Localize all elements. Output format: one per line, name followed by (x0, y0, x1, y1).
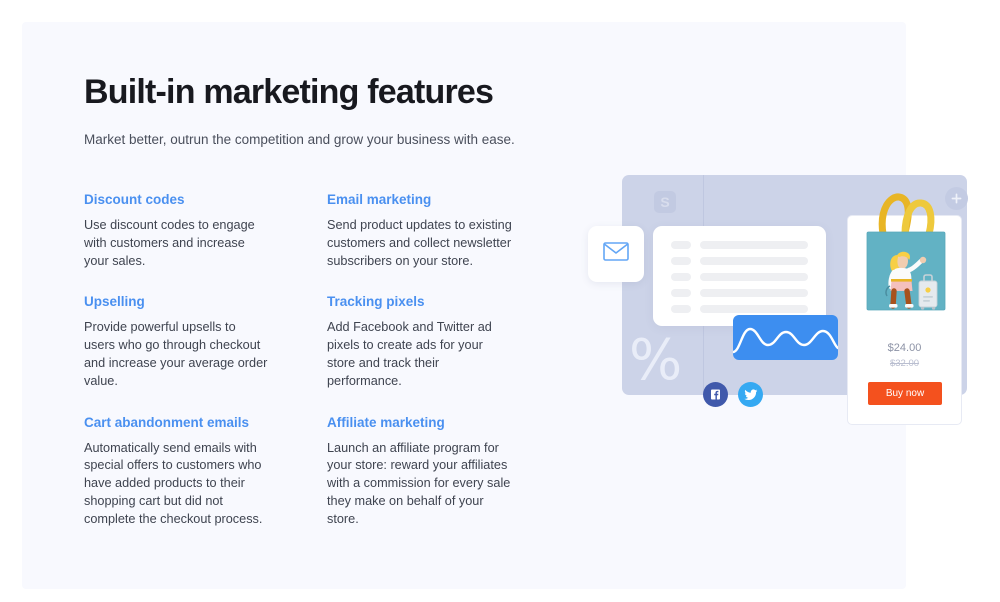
list-item (671, 305, 808, 313)
list-item-thumb (671, 241, 691, 249)
buy-now-button[interactable]: Buy now (868, 382, 942, 405)
list-item-thumb (671, 273, 691, 281)
feature-email-marketing: Email marketing Send product updates to … (327, 190, 512, 270)
list-item-line (700, 273, 808, 281)
product-price: $24.00 (847, 342, 962, 354)
feature-upselling: Upselling Provide powerful upsells to us… (84, 292, 269, 390)
list-item-line (700, 257, 808, 265)
list-item-line (700, 305, 808, 313)
list-item (671, 289, 808, 297)
social-share-group (703, 382, 763, 407)
features-grid: Discount codes Use discount codes to eng… (84, 190, 554, 551)
page-title: Built-in marketing features (84, 70, 524, 114)
list-item-thumb (671, 289, 691, 297)
feature-body: Provide powerful upsells to users who go… (84, 319, 269, 390)
marketing-illustration: S % (585, 160, 985, 440)
product-image (853, 190, 957, 325)
product-list-card (653, 226, 826, 326)
feature-title: Email marketing (327, 190, 512, 210)
list-item (671, 257, 808, 265)
feature-body: Automatically send emails with special o… (84, 440, 269, 529)
list-item (671, 273, 808, 281)
page-root: Built-in marketing features Market bette… (0, 0, 1000, 602)
feature-affiliate-marketing: Affiliate marketing Launch an affiliate … (327, 413, 512, 529)
feature-body: Send product updates to existing custome… (327, 217, 512, 270)
feature-body: Launch an affiliate program for your sto… (327, 440, 512, 529)
list-item-line (700, 289, 808, 297)
list-item-line (700, 241, 808, 249)
list-item-thumb (671, 305, 691, 313)
feature-title: Upselling (84, 292, 269, 312)
feature-body: Use discount codes to engage with custom… (84, 217, 269, 270)
sparkline-chart-icon (733, 315, 838, 360)
email-tile (588, 226, 644, 282)
feature-tracking-pixels: Tracking pixels Add Facebook and Twitter… (327, 292, 512, 390)
store-logo-icon: S (654, 191, 676, 213)
list-item-thumb (671, 257, 691, 265)
feature-title: Affiliate marketing (327, 413, 512, 433)
product-compare-price: $32.00 (847, 358, 962, 369)
percent-icon: % (629, 333, 682, 389)
page-subtitle: Market better, outrun the competition an… (84, 130, 524, 150)
facebook-icon[interactable] (703, 382, 728, 407)
feature-title: Cart abandonment emails (84, 413, 269, 433)
twitter-icon[interactable] (738, 382, 763, 407)
section-header: Built-in marketing features Market bette… (84, 70, 524, 150)
feature-title: Tracking pixels (327, 292, 512, 312)
feature-discount-codes: Discount codes Use discount codes to eng… (84, 190, 269, 270)
envelope-icon (603, 242, 629, 266)
list-item (671, 241, 808, 249)
feature-cart-abandonment-emails: Cart abandonment emails Automatically se… (84, 413, 269, 529)
analytics-chart-card (733, 315, 838, 360)
feature-title: Discount codes (84, 190, 269, 210)
feature-body: Add Facebook and Twitter ad pixels to cr… (327, 319, 512, 390)
